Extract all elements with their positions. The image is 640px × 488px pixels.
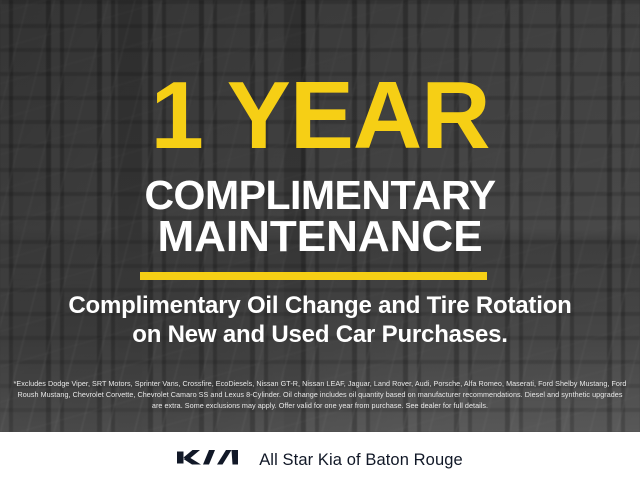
- hero-section: 1 YEAR COMPLIMENTARY MAINTENANCE Complim…: [0, 0, 640, 432]
- kia-logo-icon: [177, 448, 241, 472]
- headline-secondary: COMPLIMENTARY MAINTENANCE: [0, 176, 640, 260]
- disclaimer-text: *Excludes Dodge Viper, SRT Motors, Sprin…: [12, 378, 628, 411]
- promotional-banner: 1 YEAR COMPLIMENTARY MAINTENANCE Complim…: [0, 0, 640, 488]
- headline-primary: 1 YEAR: [0, 68, 640, 164]
- hero-content: 1 YEAR COMPLIMENTARY MAINTENANCE Complim…: [0, 0, 640, 432]
- offer-description-line-2: on New and Used Car Purchases.: [18, 320, 622, 349]
- offer-description-line-1: Complimentary Oil Change and Tire Rotati…: [68, 292, 571, 319]
- footer-bar: All Star Kia of Baton Rouge: [0, 432, 640, 488]
- headline-secondary-line-2: MAINTENANCE: [0, 214, 640, 260]
- dealer-name-label: All Star Kia of Baton Rouge: [259, 451, 463, 470]
- yellow-divider-rule: [140, 272, 487, 280]
- footer-branding: All Star Kia of Baton Rouge: [177, 448, 463, 472]
- offer-description: Complimentary Oil Change and Tire Rotati…: [18, 291, 622, 349]
